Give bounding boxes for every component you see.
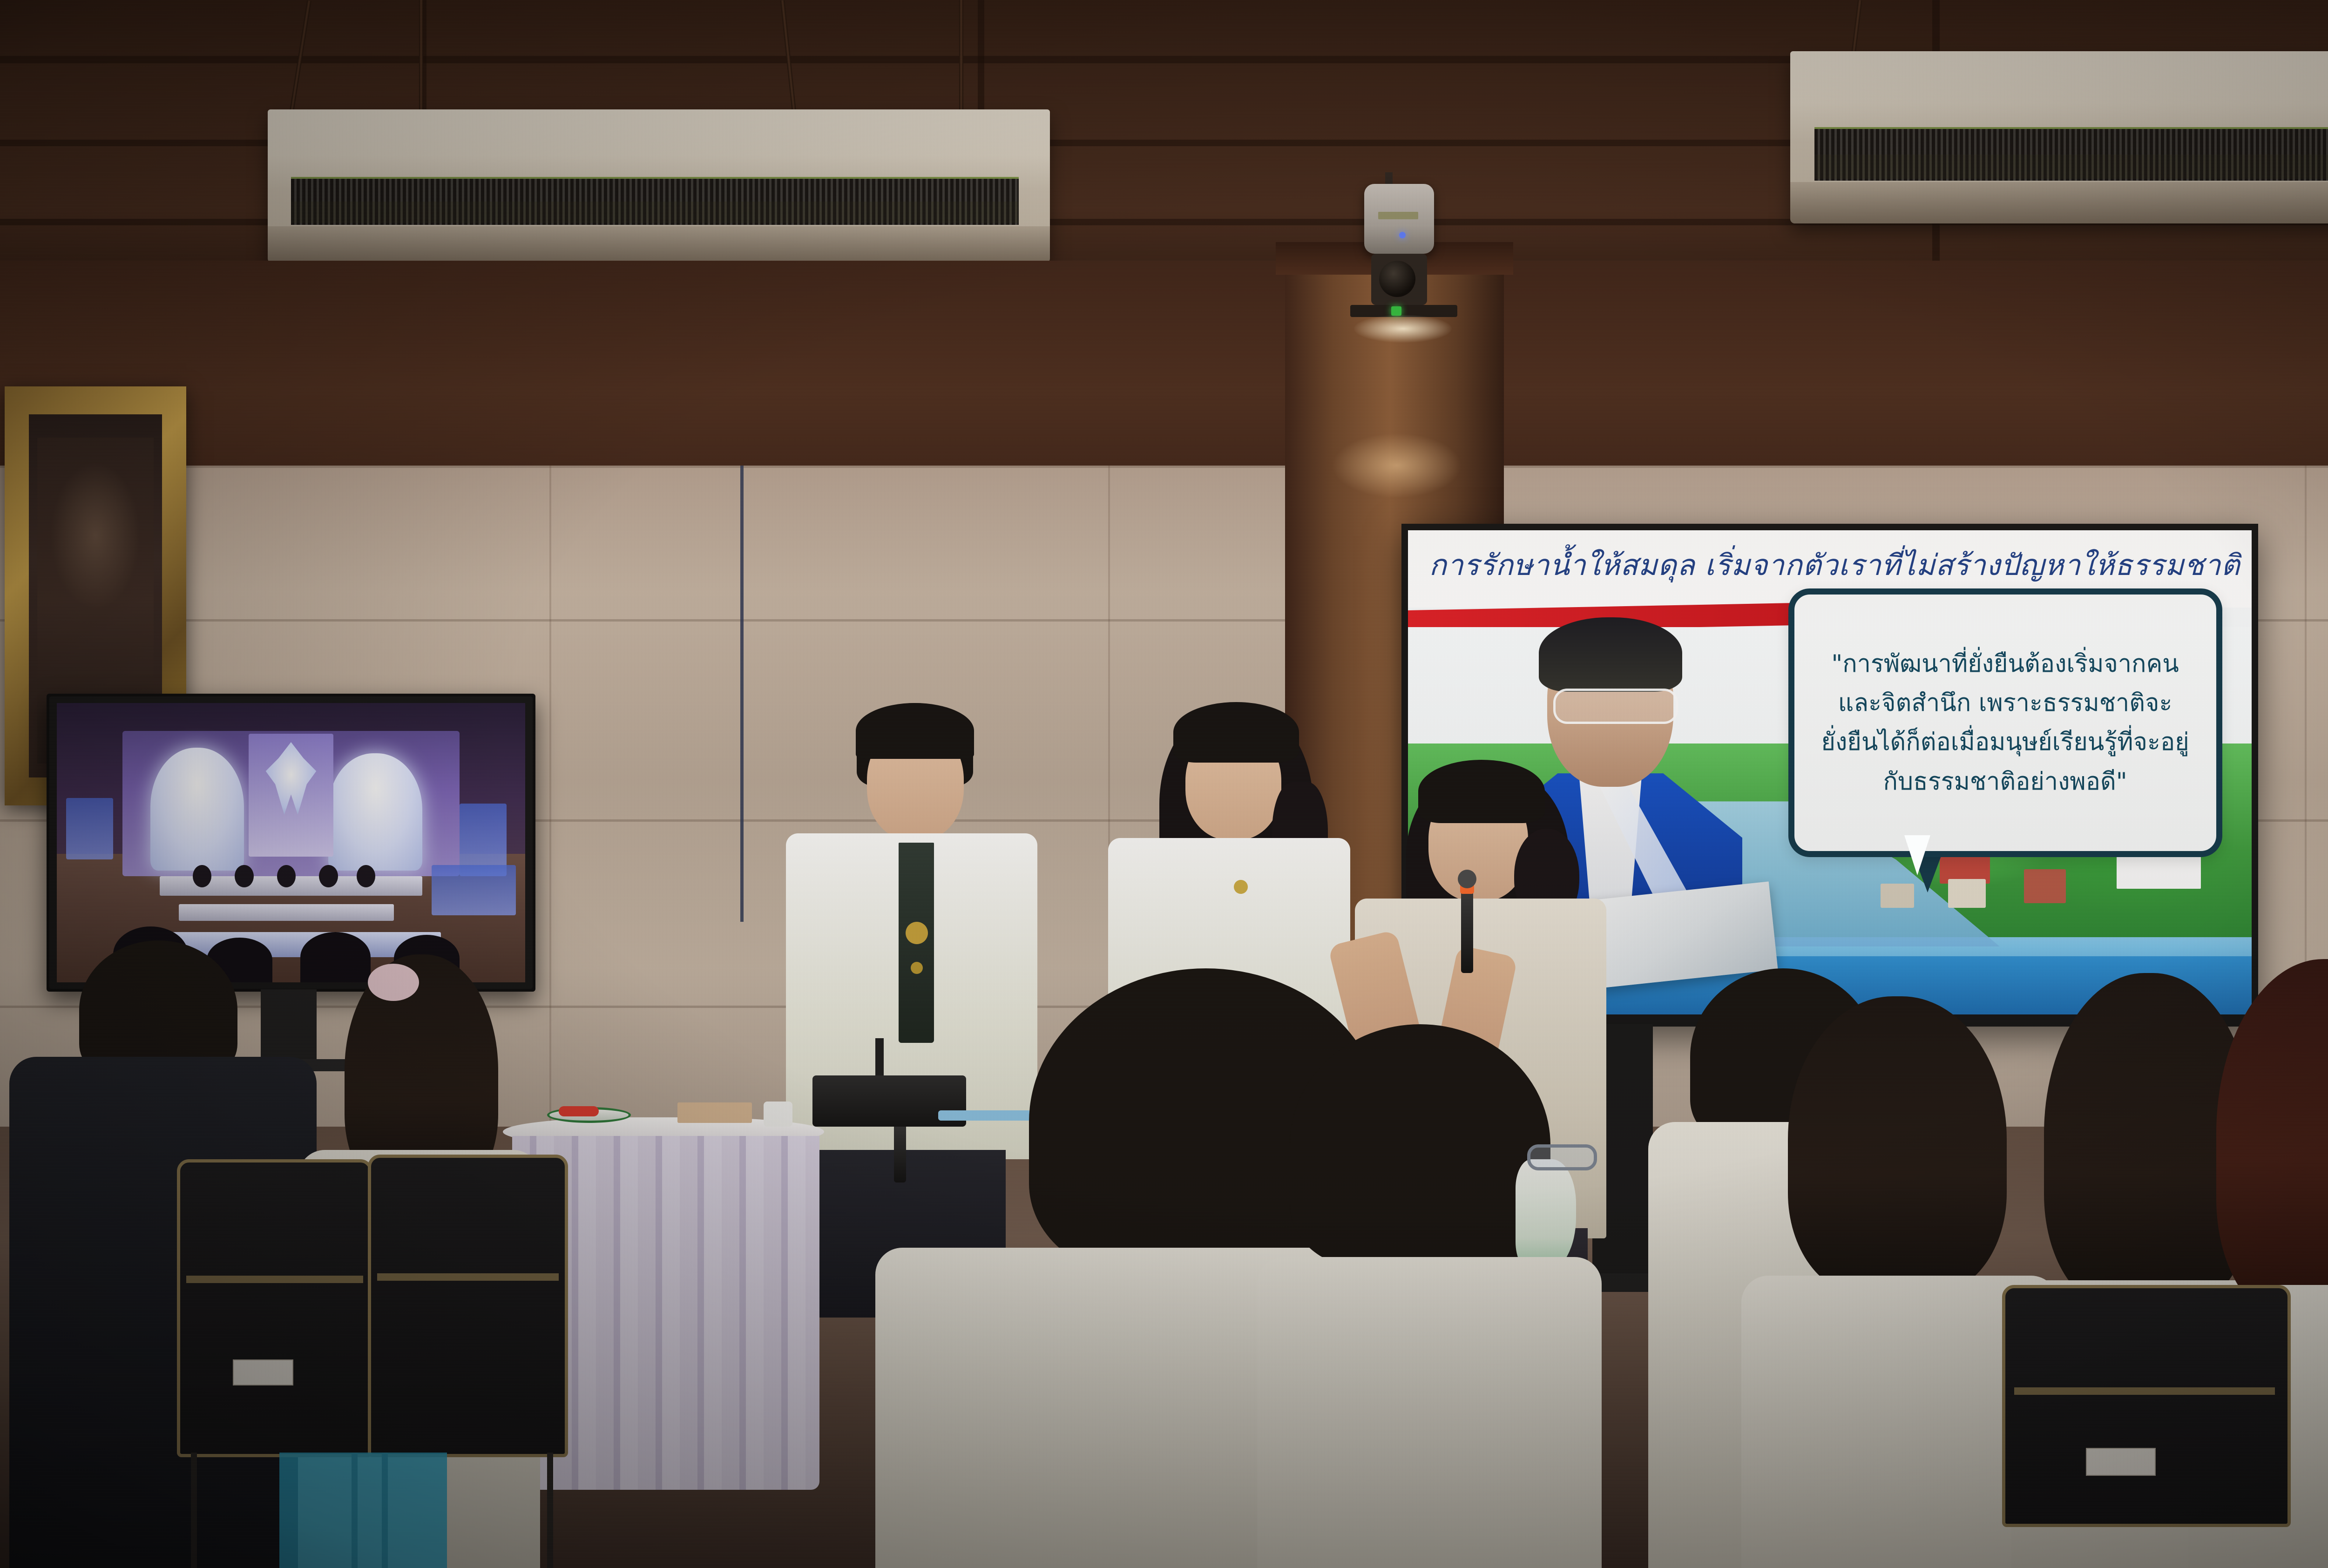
white-cup (764, 1102, 792, 1127)
slide-house-roof (2024, 869, 2066, 903)
projector-label (1378, 212, 1418, 219)
projector-lamp-glow (1354, 315, 1452, 343)
slide-house-wall (1948, 879, 1986, 908)
cardboard-box (677, 1102, 752, 1123)
audience-person-masked (1248, 1024, 1602, 1568)
projector-lens-icon (1379, 261, 1415, 297)
red-fruit (559, 1106, 599, 1116)
pillar-uplight-glow (1332, 433, 1462, 498)
slide-title: การรักษาน้ำให้สมดุล เริ่มจากตัวเราที่ไม่… (1429, 542, 2230, 588)
wall-cable (740, 466, 744, 922)
face-mask-icon (1516, 1159, 1576, 1271)
glasses-icon (1553, 689, 1678, 724)
tie-crest-icon (906, 922, 928, 944)
scene-root: การรักษาน้ำให้สมดุล เริ่มจากตัวเราที่ไม่… (0, 0, 2328, 1568)
projector-power-led-blue (1399, 232, 1406, 238)
air-conditioner-right (1790, 51, 2328, 223)
projector-status-led-green (1391, 306, 1401, 316)
slide-quote-text: "การพัฒนาที่ยั่งยืนต้องเริ่มจากคน และจิต… (1815, 612, 2195, 833)
microphone-head-icon (1458, 870, 1476, 888)
glasses-icon (1527, 1144, 1597, 1170)
hair-bow (368, 964, 419, 1001)
blue-bag (279, 1453, 447, 1568)
uniform-pin-icon (1234, 880, 1248, 894)
slide-quote-bubble: "การพัฒนาที่ยั่งยืนต้องเริ่มจากคน และจิต… (1788, 588, 2222, 857)
microphone[interactable] (1461, 889, 1473, 973)
air-conditioner-left (268, 109, 1050, 263)
chair-right-1[interactable] (2002, 1285, 2291, 1568)
